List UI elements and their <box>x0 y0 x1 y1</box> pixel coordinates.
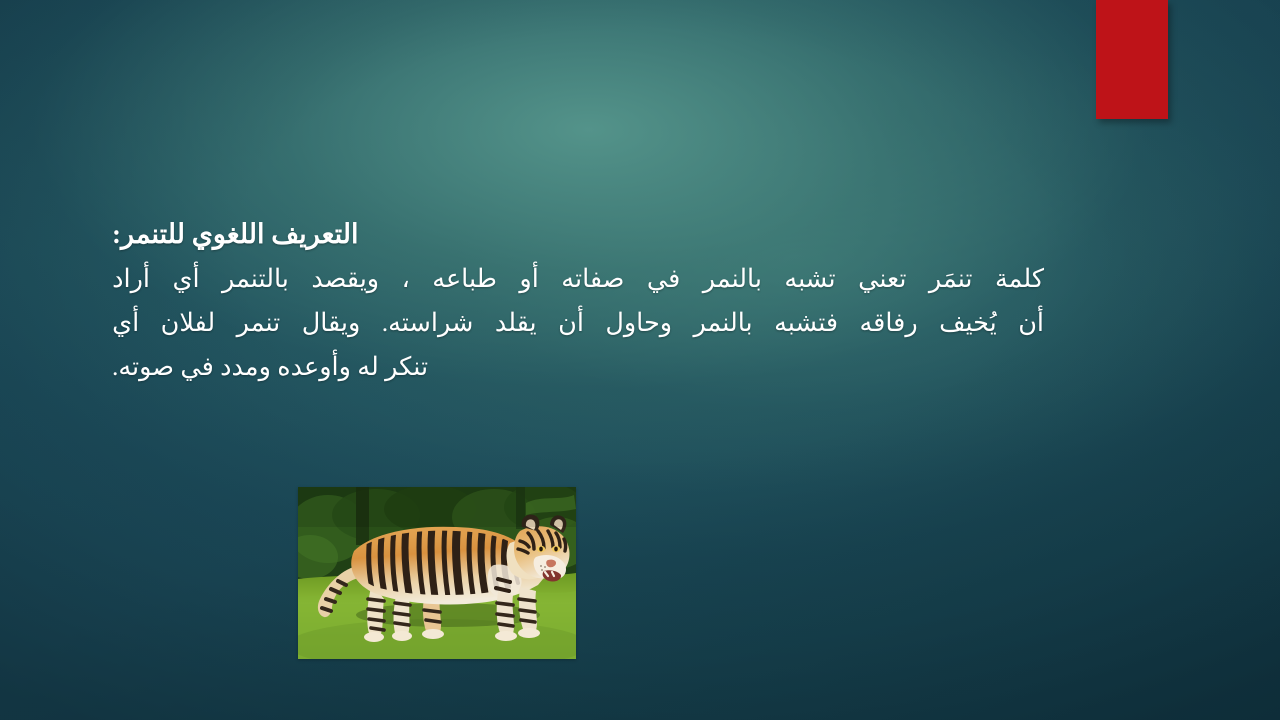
word: رفاقه <box>860 301 918 345</box>
word: بالنمر <box>703 257 762 301</box>
body-line-2: أن يُخيف رفاقه فتشبه بالنمر وحاول أن يقل… <box>112 301 1044 345</box>
word: شراسته. <box>382 301 474 345</box>
word: بالتنمر <box>222 257 289 301</box>
word: أراد <box>112 257 150 301</box>
word: كلمة <box>995 257 1044 301</box>
slide-title: التعريف اللغوي للتنمر: <box>112 214 1044 255</box>
word: طباعه <box>432 257 497 301</box>
word: أو <box>519 257 538 301</box>
word: تنمر <box>237 301 281 345</box>
word: يقلد <box>495 301 537 345</box>
word: وحاول <box>605 301 672 345</box>
word: أن <box>558 301 584 345</box>
presentation-slide: التعريف اللغوي للتنمر: كلمة تنمَر تعني ت… <box>0 0 1280 720</box>
word: تشبه <box>784 257 835 301</box>
word: أن <box>1018 301 1044 345</box>
slide-text-block: التعريف اللغوي للتنمر: كلمة تنمَر تعني ت… <box>112 214 1044 389</box>
word: ، <box>402 257 410 301</box>
word: ويقال <box>302 301 361 345</box>
word: يُخيف <box>939 301 997 345</box>
word: في <box>647 257 680 301</box>
word: فتشبه <box>774 301 838 345</box>
word: تنمَر <box>929 257 973 301</box>
word: لفلان <box>161 301 216 345</box>
tiger-photograph <box>298 487 576 659</box>
word: أي <box>172 257 199 301</box>
word: صفاته <box>561 257 624 301</box>
tiger-photo-artwork <box>298 487 576 659</box>
word: ويقصد <box>311 257 379 301</box>
red-accent-bar <box>1096 0 1168 119</box>
body-line-3: تنكر له وأوعده ومدد في صوته. <box>112 345 1044 389</box>
word: بالنمر <box>693 301 752 345</box>
word: تعني <box>858 257 906 301</box>
body-line-1: كلمة تنمَر تعني تشبه بالنمر في صفاته أو … <box>112 257 1044 301</box>
word: أي <box>112 301 139 345</box>
